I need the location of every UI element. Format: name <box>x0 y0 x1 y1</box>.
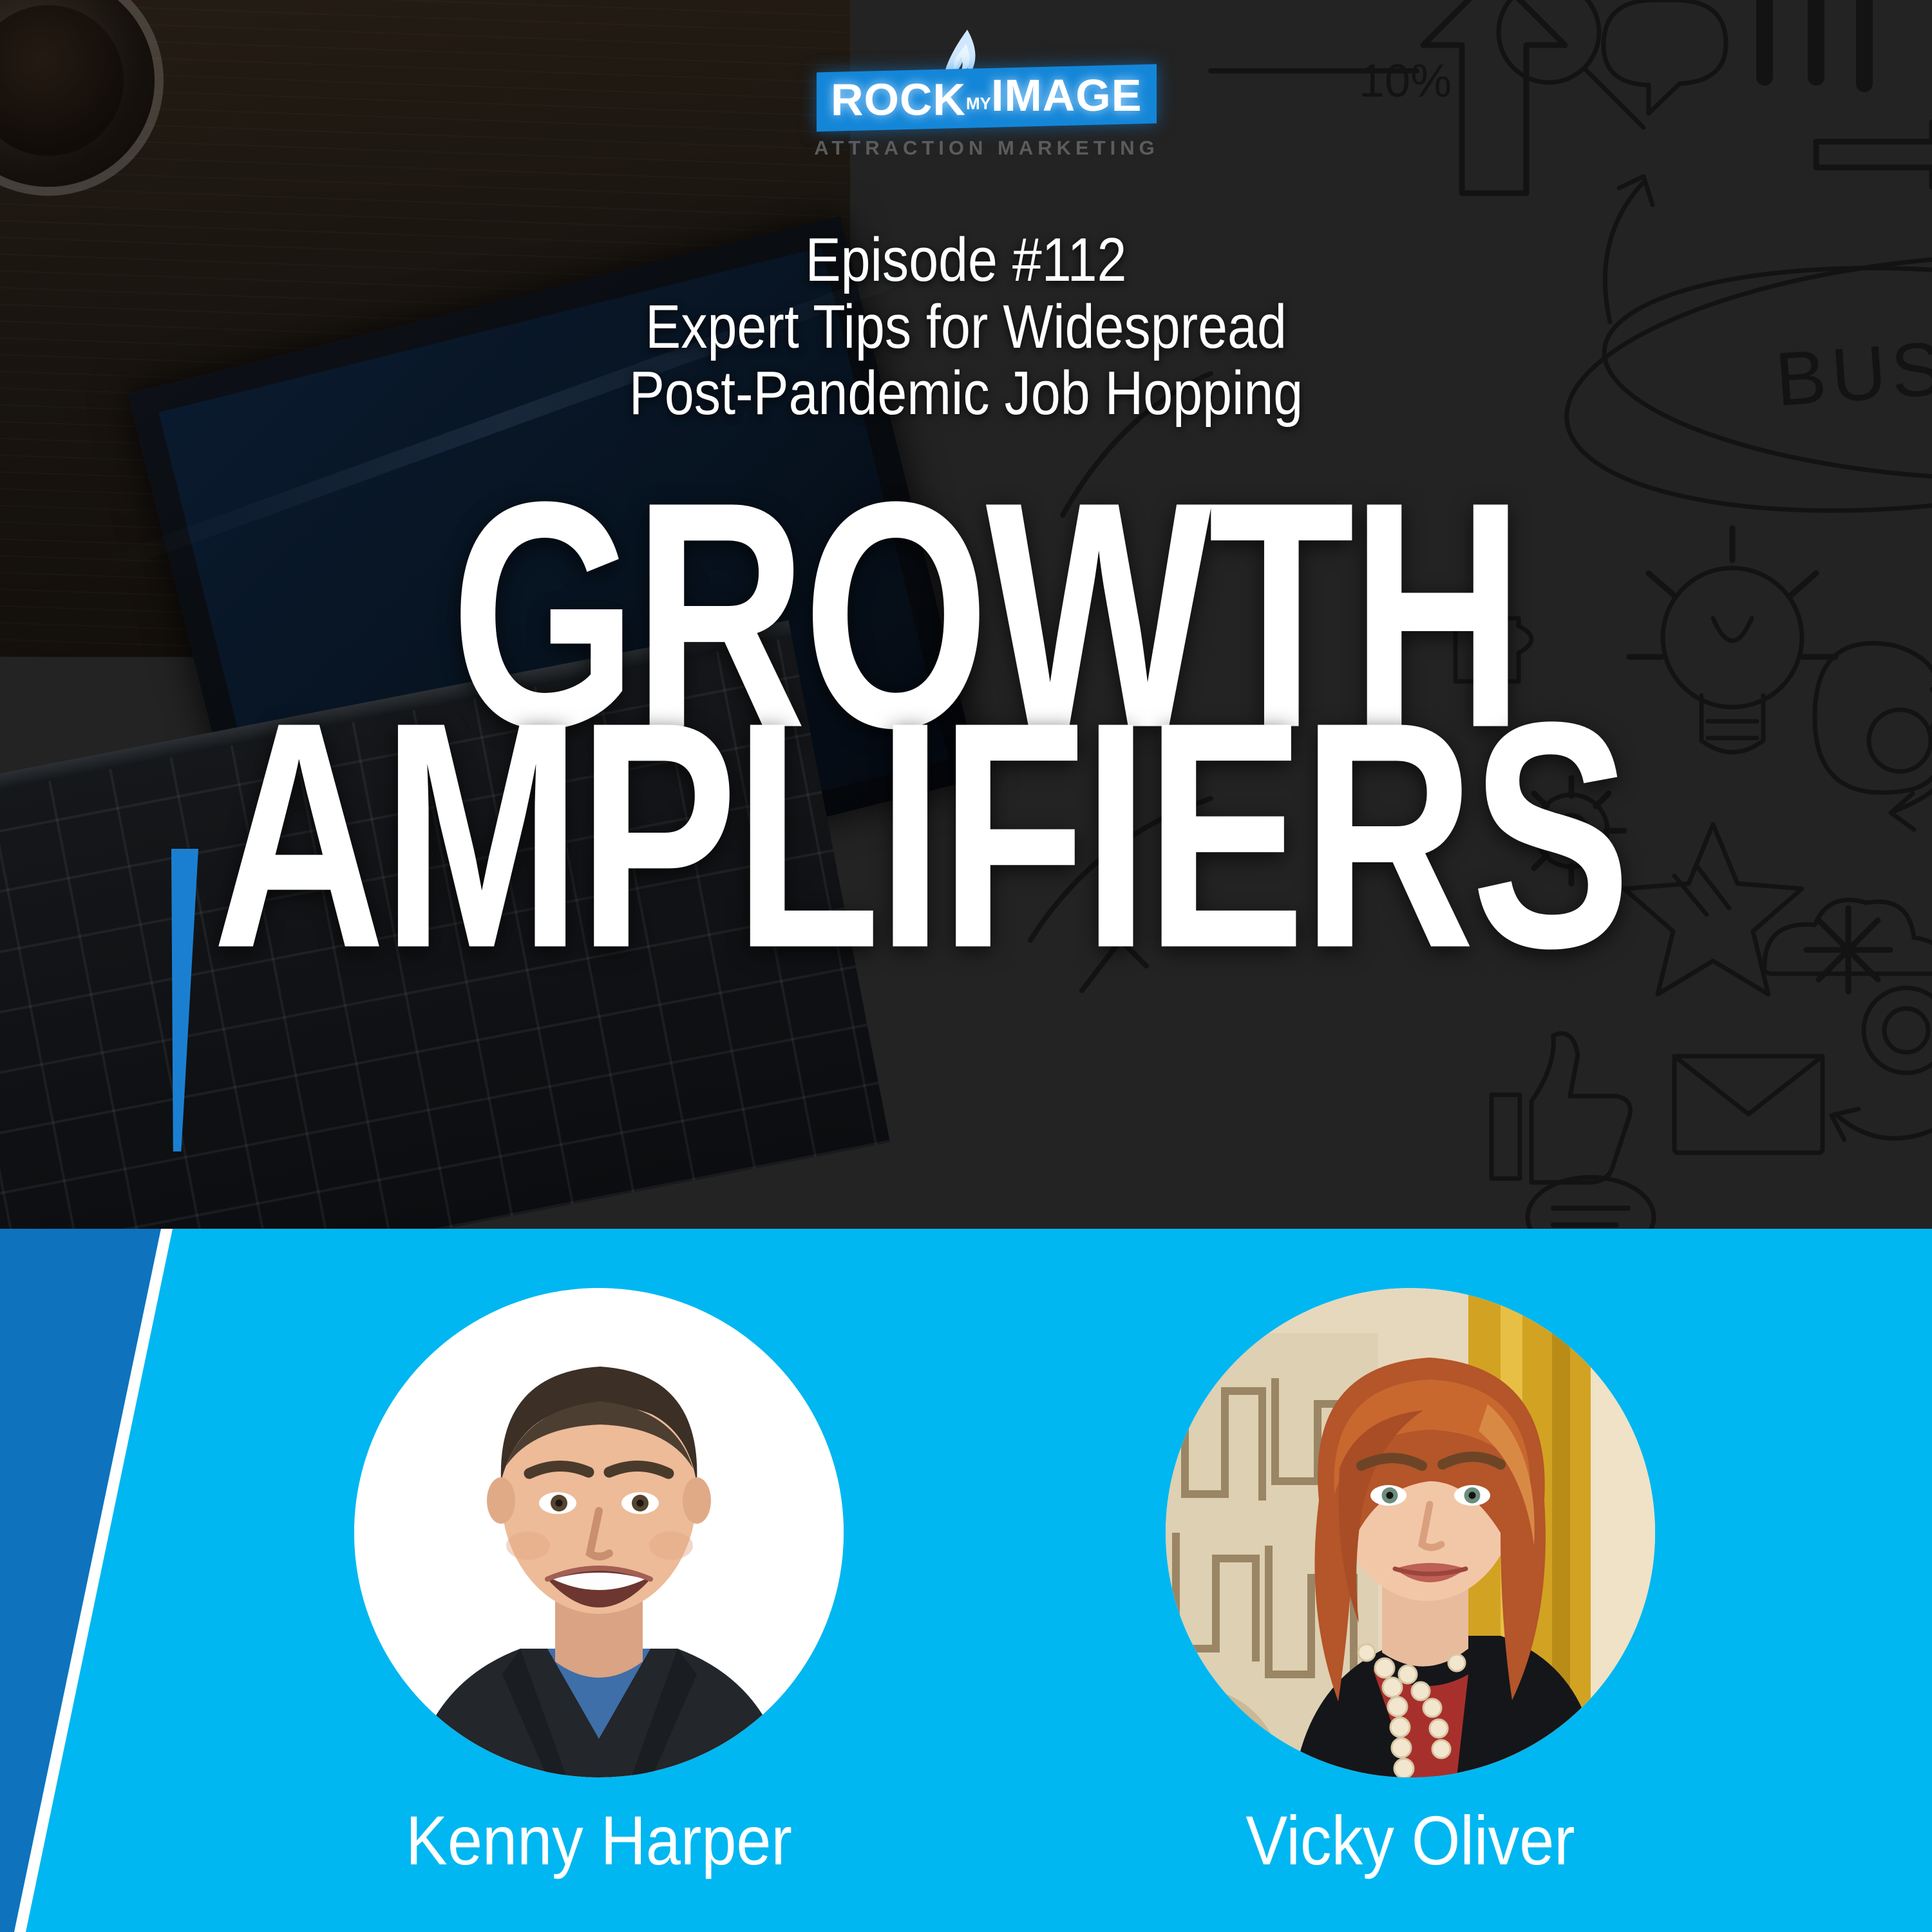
envelope-icon <box>1674 1056 1823 1153</box>
logo-word-image: IMAGE <box>991 73 1142 118</box>
host-name: Kenny Harper <box>338 1806 860 1875</box>
episode-number: Episode #112 <box>135 227 1797 294</box>
block-arrow-icon <box>1816 122 1932 187</box>
bar-chart-icon <box>1765 0 1864 84</box>
host-block: Kenny Harper <box>309 1288 889 1875</box>
hero-section: BUSINESS <box>0 0 1932 1229</box>
at-symbol-icon <box>1815 643 1932 793</box>
episode-title-line-2: Post-Pandemic Job Hopping <box>135 360 1797 427</box>
episode-title-line-1: Expert Tips for Widespread <box>135 294 1797 361</box>
logo-word-rock: ROCK <box>831 77 966 122</box>
curved-arrow-icon <box>1832 1108 1932 1140</box>
magnifier-icon <box>1499 0 1643 128</box>
hosts-footer-section: Kenny Harper <box>0 1229 1932 1932</box>
target-icon <box>1864 988 1932 1073</box>
thumbs-up-icon <box>1492 1034 1630 1182</box>
speech-bubble-icon <box>1604 0 1726 113</box>
podcast-episode-cover: BUSINESS <box>0 0 1932 1932</box>
guest-block: Vicky Oliver <box>1121 1288 1700 1875</box>
coffee-liquid <box>0 5 124 156</box>
star-icon <box>1624 824 1802 994</box>
wordmark-amplifiers: AMPLIFIERS <box>213 697 1627 974</box>
logo-tagline: ATTRACTION MARKETING <box>787 137 1186 160</box>
lightbulb-icon <box>1629 528 1835 752</box>
logo-badge: ROCKMYIMAGE <box>817 64 1157 132</box>
guest-name: Vicky Oliver <box>1150 1806 1671 1875</box>
guest-portrait-avatar <box>1166 1288 1655 1777</box>
doodle-percent-label: 10% <box>1359 55 1452 107</box>
episode-title-block: Episode #112 Expert Tips for Widespread … <box>0 227 1932 427</box>
speech-bubble-icon <box>1528 1177 1654 1229</box>
logo-word-my: MY <box>966 95 991 111</box>
host-portrait-avatar <box>354 1288 844 1777</box>
rock-my-image-logo: ROCKMYIMAGE ATTRACTION MARKETING <box>787 68 1186 160</box>
